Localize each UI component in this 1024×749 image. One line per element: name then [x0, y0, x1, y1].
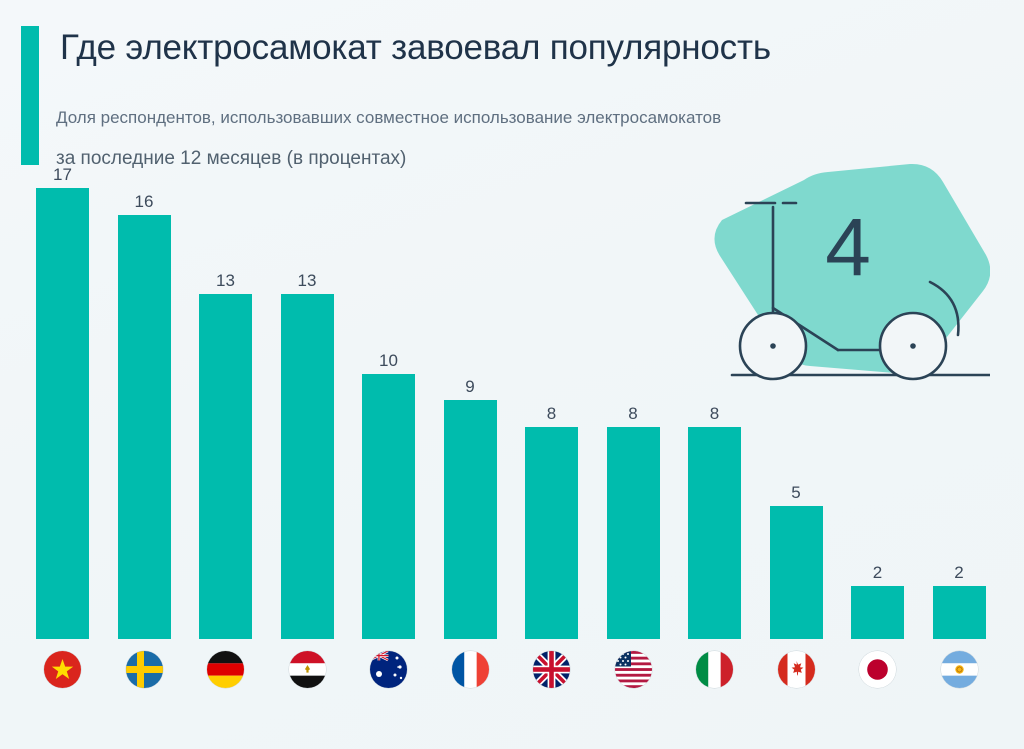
flag-france-icon[interactable]: [452, 651, 489, 688]
bar-group[interactable]: 13: [281, 188, 334, 694]
bar-value-label: 13: [281, 271, 334, 291]
bar-argentina[interactable]: [933, 586, 986, 639]
bar-group[interactable]: 8: [688, 188, 741, 694]
bar-chart: 17161313109888522: [0, 0, 1024, 749]
bar-france[interactable]: [444, 400, 497, 639]
flag-uk-icon[interactable]: [533, 651, 570, 688]
bar-value-label: 13: [199, 271, 252, 291]
bar-usa[interactable]: [607, 427, 660, 639]
flag-sweden-icon[interactable]: [126, 651, 163, 688]
infographic-canvas: Где электросамокат завоевал популярность…: [0, 0, 1024, 749]
flag-germany-icon[interactable]: [207, 651, 244, 688]
bar-japan[interactable]: [851, 586, 904, 639]
bar-group[interactable]: 2: [851, 188, 904, 694]
bar-canada[interactable]: [770, 506, 823, 639]
bar-group[interactable]: 8: [607, 188, 660, 694]
bar-uk[interactable]: [525, 427, 578, 639]
bar-vietnam[interactable]: [36, 188, 89, 639]
flag-vietnam-icon[interactable]: [44, 651, 81, 688]
bar-group[interactable]: 9: [444, 188, 497, 694]
flag-italy-icon[interactable]: [696, 651, 733, 688]
bar-value-label: 5: [770, 483, 823, 503]
bar-group[interactable]: 13: [199, 188, 252, 694]
bar-value-label: 8: [525, 404, 578, 424]
bar-group[interactable]: 16: [118, 188, 171, 694]
bar-sweden[interactable]: [118, 215, 171, 639]
bar-group[interactable]: 5: [770, 188, 823, 694]
bar-value-label: 8: [688, 404, 741, 424]
flag-canada-icon[interactable]: [778, 651, 815, 688]
bar-germany[interactable]: [199, 294, 252, 639]
flag-egypt-icon[interactable]: [289, 651, 326, 688]
bar-australia[interactable]: [362, 374, 415, 639]
bar-egypt[interactable]: [281, 294, 334, 639]
bar-value-label: 8: [607, 404, 660, 424]
bar-group[interactable]: 2: [933, 188, 986, 694]
bar-value-label: 2: [933, 563, 986, 583]
flag-argentina-icon[interactable]: [941, 651, 978, 688]
bar-value-label: 2: [851, 563, 904, 583]
bar-value-label: 16: [118, 192, 171, 212]
bar-value-label: 9: [444, 377, 497, 397]
flag-australia-icon[interactable]: [370, 651, 407, 688]
bar-value-label: 10: [362, 351, 415, 371]
bar-group[interactable]: 17: [36, 188, 89, 694]
flag-usa-icon[interactable]: [615, 651, 652, 688]
flag-japan-icon[interactable]: [859, 651, 896, 688]
bar-italy[interactable]: [688, 427, 741, 639]
bar-group[interactable]: 10: [362, 188, 415, 694]
bar-value-label: 17: [36, 165, 89, 185]
bar-group[interactable]: 8: [525, 188, 578, 694]
